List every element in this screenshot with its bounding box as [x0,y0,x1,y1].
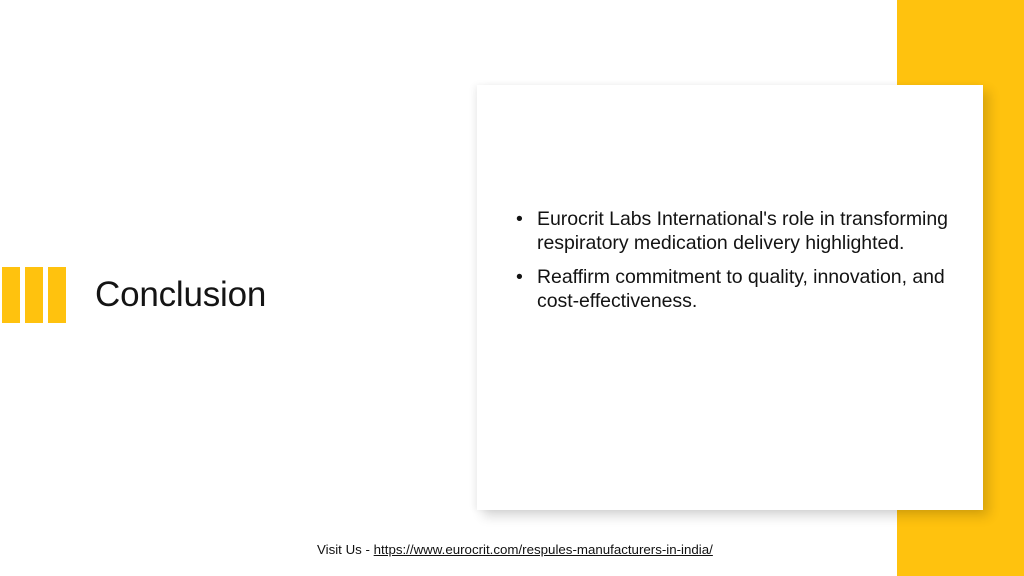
accent-bar-icon [2,267,20,323]
list-item: • Reaffirm commitment to quality, innova… [510,266,960,313]
content-card: • Eurocrit Labs International's role in … [477,85,983,510]
accent-bars-decoration [2,267,66,323]
footer-prefix-label: Visit Us - [317,542,374,557]
list-item: • Eurocrit Labs International's role in … [510,208,960,255]
footer: Visit Us - https://www.eurocrit.com/resp… [317,541,713,558]
title-group: Conclusion [0,267,266,323]
presentation-slide: • Eurocrit Labs International's role in … [0,0,1024,576]
page-title: Conclusion [95,275,266,315]
list-item-text: Eurocrit Labs International's role in tr… [537,208,948,254]
accent-bar-icon [25,267,43,323]
accent-bar-icon [48,267,66,323]
bullet-point-icon: • [516,208,523,232]
bullet-list: • Eurocrit Labs International's role in … [510,208,960,313]
list-item-text: Reaffirm commitment to quality, innovati… [537,266,945,312]
footer-website-link[interactable]: https://www.eurocrit.com/respules-manufa… [374,542,713,557]
bullet-point-icon: • [516,266,523,290]
